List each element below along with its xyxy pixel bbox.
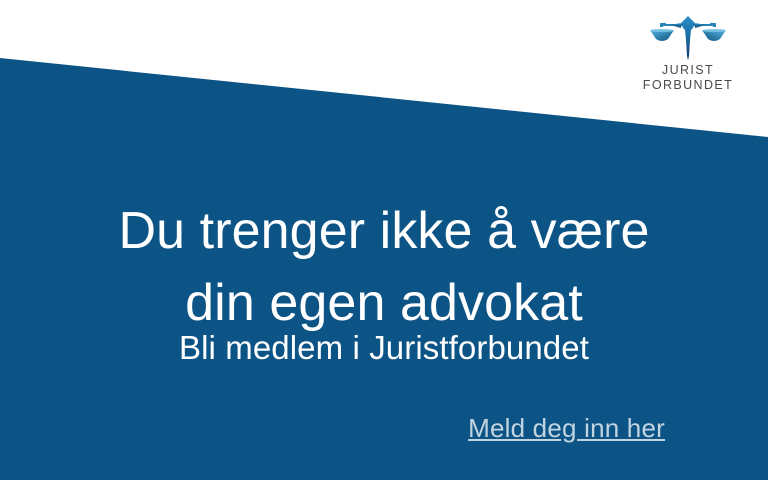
signup-link[interactable]: Meld deg inn her (468, 411, 665, 445)
headline: Du trenger ikke å være din egen advokat (0, 195, 768, 339)
promo-banner: JURIST FORBUNDET Du trenger ikke å være … (0, 0, 768, 480)
banner-content: Du trenger ikke å være din egen advokat … (0, 0, 768, 480)
headline-line-1: Du trenger ikke å være (0, 195, 768, 267)
subtitle: Bli medlem i Juristforbundet (0, 327, 768, 369)
